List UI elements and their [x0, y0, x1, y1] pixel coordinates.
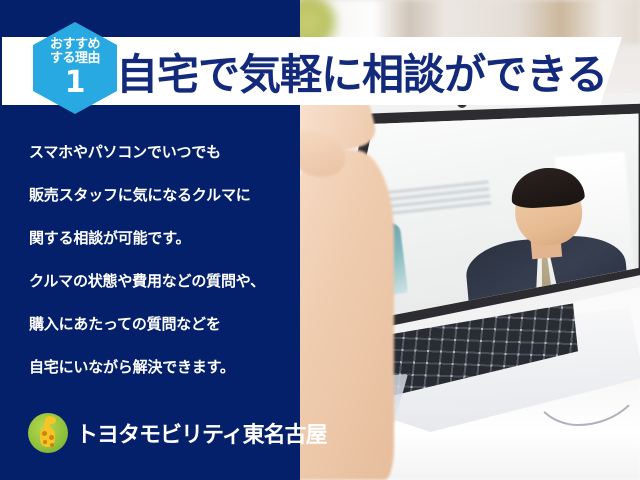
page-title: 自宅で気軽に相談ができる [116, 38, 586, 104]
body-copy-line: 自宅にいながら解決できます。 [29, 352, 281, 395]
badge-number: 1 [65, 68, 86, 98]
body-copy-line: 関する相談が可能です。 [29, 223, 281, 266]
laptop-power-cable [530, 316, 640, 426]
giraffe-head [45, 416, 56, 424]
body-copy: スマホやパソコンでいつでも 販売スタッフに気になるクルマに 関する相談が可能です… [29, 137, 281, 395]
giraffe-spot [42, 431, 47, 436]
person-hair [510, 165, 586, 209]
giraffe-spot [49, 435, 54, 440]
dealer-logo: トヨタモビリティ東名古屋 [28, 413, 327, 453]
giraffe-spot [43, 440, 47, 444]
badge-label-line1: おすすめ [50, 38, 100, 52]
badge-label-line2: する理由 [50, 52, 100, 66]
giraffe-mascot-icon [28, 413, 68, 453]
body-copy-line: クルマの状態や費用などの質問や、 [29, 266, 281, 309]
dealer-logo-text: トヨタモビリティ東名古屋 [76, 417, 327, 449]
advertisement-banner: 自宅で気軽に相談ができる おすすめ する理由 1 スマホやパソコンでいつでも 販… [0, 0, 640, 480]
body-copy-line: スマホやパソコンでいつでも [29, 137, 281, 180]
giraffe-spot [50, 443, 54, 447]
body-copy-line: 購入にあたっての質問などを [29, 309, 281, 352]
body-copy-line: 販売スタッフに気になるクルマに [29, 180, 281, 223]
